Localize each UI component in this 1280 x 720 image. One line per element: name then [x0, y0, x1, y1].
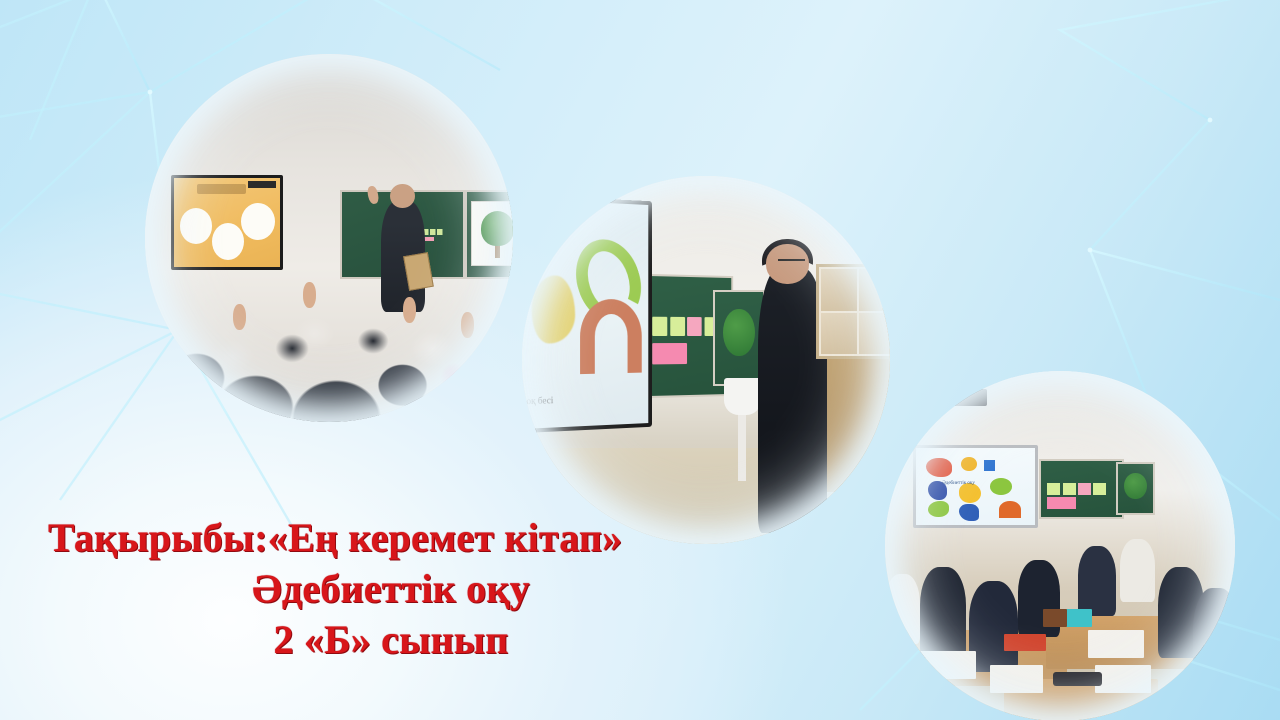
- photo-teacher-with-book: оқ бесі Мұғалім кітап ұстап тұр, интерак…: [522, 176, 890, 544]
- photo-left-vignette: [145, 54, 513, 422]
- title-line-topic: Тақырыбы:«Ең керемет кітап»: [48, 512, 708, 563]
- photo-center-vignette: [522, 176, 890, 544]
- presentation-slide: Сынып бөлмесі: оқушылар қол көтеріп отыр…: [0, 0, 1280, 720]
- title-line-subject: Әдебиеттік оқу: [48, 563, 708, 614]
- photo-classroom-raised-hands: Сынып бөлмесі: оқушылар қол көтеріп отыр…: [145, 54, 513, 422]
- photo-students-at-desks: Әдебиеттік оқу: [885, 371, 1235, 720]
- slide-title: Тақырыбы:«Ең керемет кітап» Әдебиеттік о…: [48, 512, 708, 666]
- photo-right-vignette: [885, 371, 1235, 720]
- title-line-class: 2 «Б» сынып: [48, 614, 708, 665]
